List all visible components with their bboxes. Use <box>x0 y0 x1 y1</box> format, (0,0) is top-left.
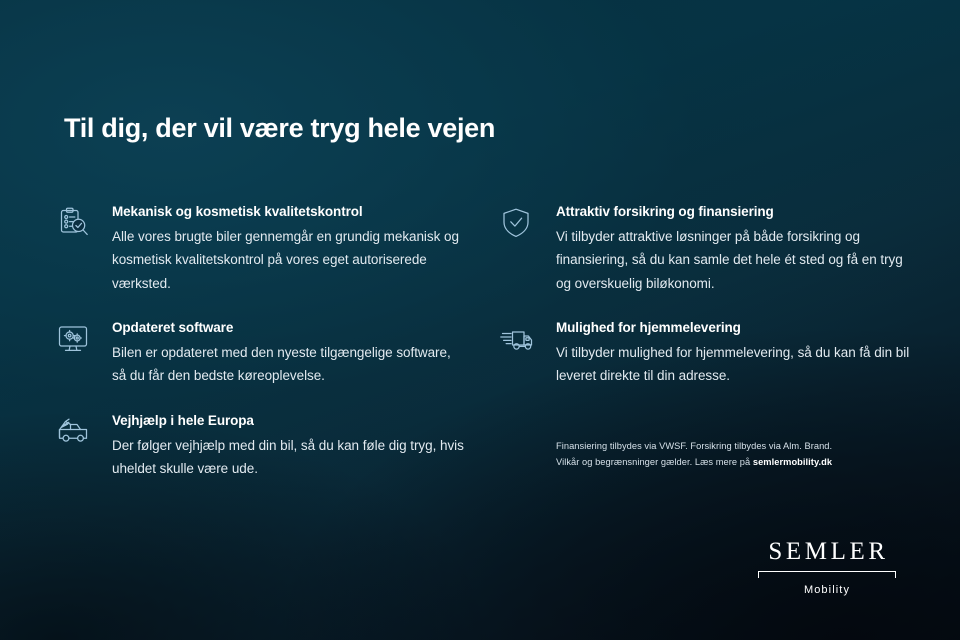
slide-root: Til dig, der vil være tryg hele vejen <box>0 0 960 640</box>
disclaimer-line-2: Vilkår og begrænsninger gælder. Læs mere… <box>556 454 912 470</box>
feature-home-delivery: Mulighed for hjemmelevering Vi tilbyder … <box>500 319 912 388</box>
feature-updated-software: Opdateret software Bilen er opdateret me… <box>56 319 468 388</box>
delivery-truck-icon <box>500 319 556 356</box>
feature-title: Mekanisk og kosmetisk kvalitetskontrol <box>112 203 468 221</box>
logo-subtitle: Mobility <box>752 585 902 596</box>
shield-check-icon <box>500 203 556 240</box>
feature-text: Vi tilbyder attraktive løsninger på både… <box>556 225 912 295</box>
feature-body: Opdateret software Bilen er opdateret me… <box>112 319 468 388</box>
feature-insurance-financing: Attraktiv forsikring og finansiering Vi … <box>500 203 912 295</box>
feature-text: Vi tilbyder mulighed for hjemmelevering,… <box>556 341 912 387</box>
logo-wordmark: SEMLER <box>752 539 902 564</box>
feature-title: Opdateret software <box>112 319 468 337</box>
disclaimer: Finansiering tilbydes via VWSF. Forsikri… <box>500 438 912 471</box>
page-title: Til dig, der vil være tryg hele vejen <box>64 112 495 144</box>
feature-body: Vejhjælp i hele Europa Der følger vejhjæ… <box>112 412 468 481</box>
feature-title: Vejhjælp i hele Europa <box>112 412 468 430</box>
clipboard-check-magnifier-icon <box>56 203 112 240</box>
feature-title: Attraktiv forsikring og finansiering <box>556 203 912 221</box>
slide-content: Til dig, der vil være tryg hele vejen <box>0 0 960 640</box>
features-column-left: Mekanisk og kosmetisk kvalitetskontrol A… <box>56 203 468 480</box>
feature-text: Alle vores brugte biler gennemgår en gru… <box>112 225 468 295</box>
feature-roadside-assistance: Vejhjælp i hele Europa Der følger vejhjæ… <box>56 412 468 481</box>
disclaimer-website-link[interactable]: semlermobility.dk <box>753 457 832 467</box>
semler-mobility-logo: SEMLER Mobility <box>752 539 902 596</box>
feature-body: Mulighed for hjemmelevering Vi tilbyder … <box>556 319 912 388</box>
feature-body: Mekanisk og kosmetisk kvalitetskontrol A… <box>112 203 468 295</box>
feature-text: Der følger vejhjælp med din bil, så du k… <box>112 434 468 480</box>
disclaimer-line-2-prefix: Vilkår og begrænsninger gælder. Læs mere… <box>556 457 753 467</box>
feature-title: Mulighed for hjemmelevering <box>556 319 912 337</box>
logo-divider-rule <box>758 571 896 580</box>
feature-body: Attraktiv forsikring og finansiering Vi … <box>556 203 912 295</box>
monitor-gears-icon <box>56 319 112 356</box>
feature-text: Bilen er opdateret med den nyeste tilgæn… <box>112 341 468 387</box>
features-column-right: Attraktiv forsikring og finansiering Vi … <box>500 203 912 480</box>
tow-truck-icon <box>56 412 112 449</box>
feature-quality-control: Mekanisk og kosmetisk kvalitetskontrol A… <box>56 203 468 295</box>
disclaimer-line-1: Finansiering tilbydes via VWSF. Forsikri… <box>556 438 912 454</box>
features-columns: Mekanisk og kosmetisk kvalitetskontrol A… <box>56 203 912 480</box>
